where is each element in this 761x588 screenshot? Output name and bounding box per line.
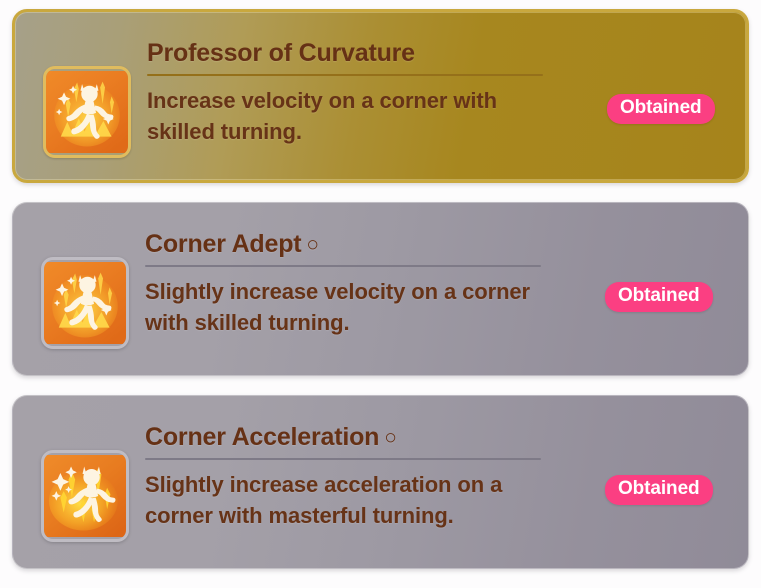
skill-title: Professor of Curvature (147, 38, 547, 69)
skill-title-text: Corner Adept (145, 230, 301, 258)
skill-icon (43, 66, 131, 158)
skill-description: Slightly increase acceleration on a corn… (145, 469, 545, 531)
skill-icon (41, 450, 129, 542)
running-character-sparkle-grass-icon (41, 257, 129, 349)
skill-title: Corner Adept○ (145, 229, 545, 260)
skill-title-text: Corner Acceleration (145, 423, 379, 451)
skill-title-text: Professor of Curvature (147, 39, 415, 67)
title-divider (145, 265, 541, 267)
skill-card[interactable]: Corner Acceleration○ Slightly increase a… (12, 395, 749, 569)
skill-rank-circle-icon: ○ (306, 233, 318, 256)
title-divider (145, 458, 541, 460)
skill-description: Slightly increase velocity on a corner w… (145, 276, 545, 338)
status-badge: Obtained (605, 475, 713, 505)
skill-card[interactable]: Corner Adept○ Slightly increase velocity… (12, 202, 749, 376)
status-badge: Obtained (607, 94, 715, 124)
skill-card[interactable]: Professor of Curvature Increase velocity… (12, 9, 749, 183)
running-character-sparkle-burst-icon (41, 450, 129, 542)
skill-text-block: Corner Adept○ Slightly increase velocity… (145, 229, 545, 338)
skill-text-block: Corner Acceleration○ Slightly increase a… (145, 422, 545, 531)
title-divider (147, 74, 543, 76)
skill-text-block: Professor of Curvature Increase velocity… (147, 38, 547, 147)
skill-icon (41, 257, 129, 349)
skill-description: Increase velocity on a corner with skill… (147, 85, 547, 147)
skill-title: Corner Acceleration○ (145, 422, 545, 453)
skill-rank-circle-icon: ○ (384, 426, 396, 449)
status-badge: Obtained (605, 282, 713, 312)
running-character-sparkle-grass-icon (43, 66, 131, 158)
skill-list: Professor of Curvature Increase velocity… (0, 0, 761, 588)
